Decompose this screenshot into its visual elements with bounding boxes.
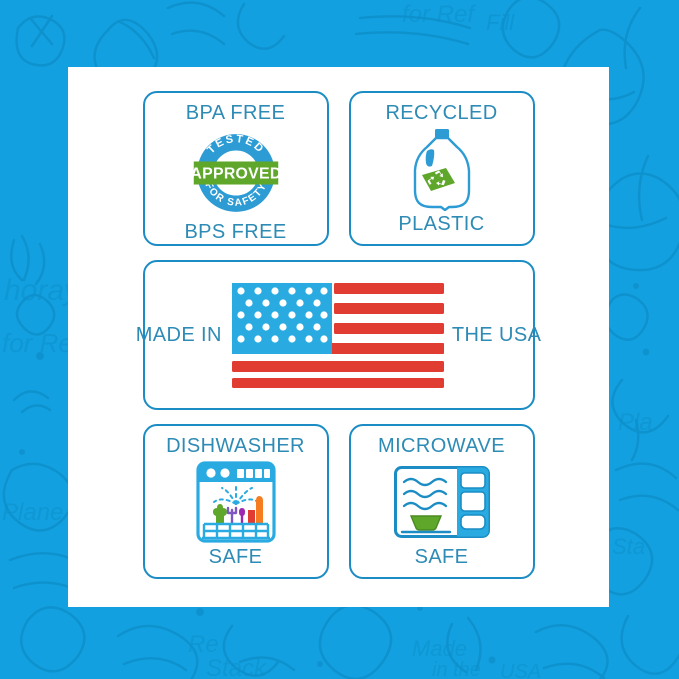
microwave-icon	[393, 465, 491, 539]
dishwasher-icon	[195, 460, 277, 544]
usa-left-label: MADE IN	[136, 324, 222, 347]
panel-dishwasher-safe[interactable]: DISHWASHER	[143, 424, 329, 579]
feature-card: BPA FREE TESTED FOR SAFETY APPROVED	[68, 67, 609, 607]
panel-microwave-safe[interactable]: MICROWAVE SAFE	[349, 424, 535, 579]
badge-banner-text: APPROVED	[190, 165, 281, 182]
dishwasher-bottom-label: SAFE	[209, 546, 263, 569]
svg-text:for Re: for Re	[2, 328, 73, 358]
svg-text:FOR SAFETY: FOR SAFETY	[202, 181, 269, 209]
svg-text:Fill: Fill	[486, 10, 515, 35]
bpa-bottom-label: BPS FREE	[184, 221, 286, 244]
recycled-bottom-label: PLASTIC	[398, 213, 484, 236]
tested-approved-icon: TESTED FOR SAFETY APPROVED	[188, 125, 284, 221]
panel-row-bottom: DISHWASHER	[143, 424, 535, 579]
bpa-top-label: BPA FREE	[186, 102, 286, 125]
svg-text:Plane: Plane	[2, 499, 63, 526]
plastic-jug-recycle-icon	[405, 127, 479, 211]
svg-text:Pla: Pla	[618, 409, 653, 436]
svg-text:Sta: Sta	[612, 534, 645, 559]
american-flag-icon	[230, 281, 444, 389]
flag-wrap	[222, 281, 452, 389]
usa-right-label: THE USA	[452, 324, 541, 347]
svg-text:in the: in the	[432, 659, 481, 679]
approved-badge: TESTED FOR SAFETY APPROVED	[188, 125, 284, 221]
svg-text:for Ref: for Ref	[402, 1, 476, 28]
svg-text:Stack: Stack	[206, 655, 268, 679]
microwave-icon-wrap	[393, 458, 491, 546]
svg-text:Re: Re	[188, 631, 219, 658]
badge-bottom-text: FOR SAFETY	[202, 181, 269, 209]
microwave-bottom-label: SAFE	[415, 546, 469, 569]
panel-bpa-free[interactable]: BPA FREE TESTED FOR SAFETY APPROVED	[143, 91, 329, 246]
svg-text:Made: Made	[412, 636, 467, 661]
jug-icon-wrap	[405, 125, 479, 213]
dishwasher-top-label: DISHWASHER	[166, 435, 305, 458]
svg-text:USA: USA	[500, 661, 541, 679]
microwave-top-label: MICROWAVE	[378, 435, 505, 458]
panel-made-in-usa[interactable]: MADE IN	[143, 260, 535, 410]
panel-recycled-plastic[interactable]: RECYCLED PLASTIC	[349, 91, 535, 246]
recycled-top-label: RECYCLED	[385, 102, 497, 125]
dishwasher-icon-wrap	[195, 458, 277, 546]
panel-row-top: BPA FREE TESTED FOR SAFETY APPROVED	[143, 91, 535, 246]
